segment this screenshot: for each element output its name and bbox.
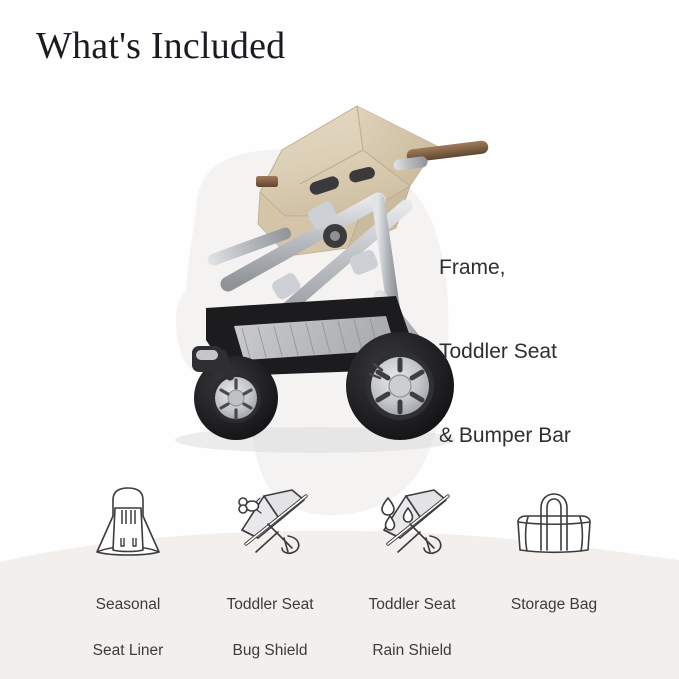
rear-wheel [346,332,454,440]
feature-toddler-seat-bug-shield: Toddler Seat Bug Shield [200,484,340,662]
callout-line-3: & Bumper Bar [439,422,571,450]
feature-label: Toddler Seat Rain Shield [368,570,455,662]
feature-label-line-1: Storage Bag [511,596,597,613]
callout-line-1: Frame, [439,254,571,282]
feature-label: Storage Bag [511,570,597,616]
feature-label-line-1: Seasonal [96,596,161,613]
leather-tag [256,176,278,187]
feature-label: Seasonal Seat Liner [93,570,164,662]
feature-label: Toddler Seat Bug Shield [226,570,313,662]
callout-line-2: Toddler Seat [439,338,571,366]
feature-label-line-2: Rain Shield [372,642,451,659]
feature-storage-bag: Storage Bag [484,484,624,616]
seat-liner-icon [85,484,171,558]
included-items-row: Seasonal Seat Liner [58,484,624,624]
feature-seasonal-seat-liner: Seasonal Seat Liner [58,484,198,662]
feature-label-line-2: Bug Shield [233,642,308,659]
hero-callout: Frame, Toddler Seat & Bumper Bar [439,198,571,506]
feature-label-line-1: Toddler Seat [368,596,455,613]
feature-toddler-seat-rain-shield: Toddler Seat Rain Shield [342,484,482,662]
rain-shield-icon [364,484,460,558]
whats-included-infographic: What's Included [0,0,679,679]
bug-shield-icon [222,484,318,558]
storage-bag-icon [506,484,602,558]
feature-label-line-1: Toddler Seat [226,596,313,613]
feature-label-line-2: Seat Liner [93,642,164,659]
page-title: What's Included [36,24,285,68]
